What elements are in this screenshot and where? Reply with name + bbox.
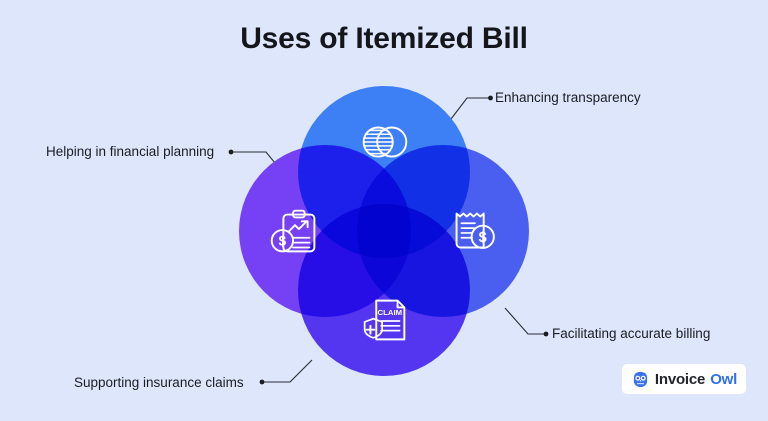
callout-label-billing: Facilitating accurate billing — [552, 326, 710, 341]
callout-label-claims: Supporting insurance claims — [74, 375, 244, 390]
page-title: Uses of Itemized Bill — [0, 22, 768, 56]
venn-diagram: $ CLAIM — [239, 86, 529, 376]
callout-label-planning: Helping in financial planning — [46, 144, 214, 159]
infographic-canvas: Uses of Itemized Bill — [0, 0, 768, 421]
logo-text-invoice: Invoice — [655, 371, 705, 388]
brand-logo[interactable]: Invoice Owl — [622, 364, 746, 394]
owl-icon — [631, 370, 650, 389]
callout-label-transparency: Enhancing transparency — [495, 90, 641, 105]
logo-text-owl: Owl — [710, 371, 737, 388]
venn-circle-planning[interactable] — [239, 145, 411, 317]
